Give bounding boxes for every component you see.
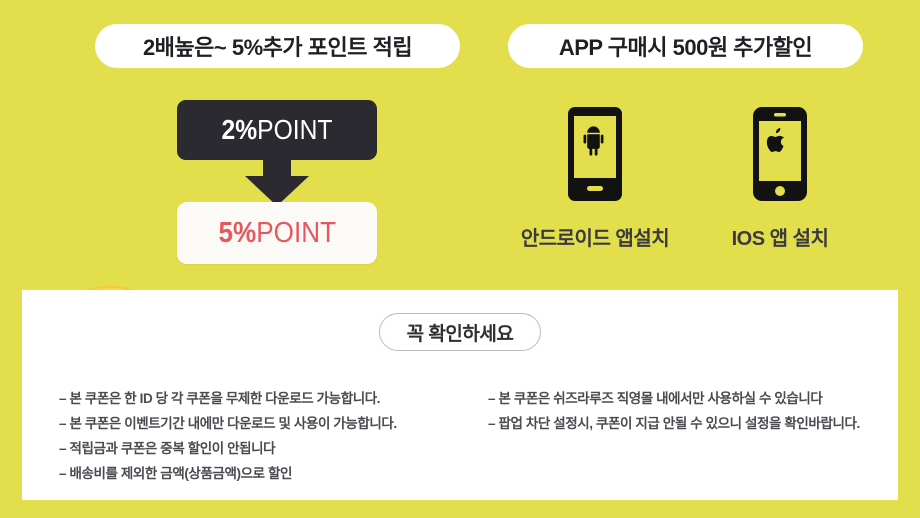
arrow-down-icon-shaft bbox=[263, 158, 291, 178]
notice-item: – 본 쿠폰은 한 ID 당 각 쿠폰을 무제한 다운로드 가능합니다. bbox=[59, 386, 479, 411]
notice-item: – 배송비를 제외한 금액(상품금액)으로 할인 bbox=[59, 461, 479, 486]
promo-banner: 2배높은~ 5%추가 포인트 적립 APP 구매시 500원 추가할인 2%PO… bbox=[0, 0, 920, 518]
notice-title-badge: 꼭 확인하세요 bbox=[379, 313, 541, 351]
app-install-android[interactable]: 안드로이드 앱설치 bbox=[505, 100, 685, 251]
point-badge-to-percent: 5% bbox=[218, 217, 256, 249]
header-pill-app: APP 구매시 500원 추가할인 bbox=[508, 24, 863, 68]
point-badge-from: 2%POINT bbox=[177, 100, 377, 160]
app-install-ios-label: IOS 앱 설치 bbox=[690, 222, 870, 251]
apple-phone-icon bbox=[690, 100, 870, 208]
notice-item: – 본 쿠폰은 쉬즈라루즈 직영몰 내에서만 사용하실 수 있습니다 bbox=[488, 386, 908, 411]
app-install-ios[interactable]: IOS 앱 설치 bbox=[690, 100, 870, 251]
header-pill-point-label: 2배높은~ 5%추가 포인트 적립 bbox=[143, 30, 412, 62]
header-pill-app-label: APP 구매시 500원 추가할인 bbox=[559, 30, 812, 62]
notice-title-label: 꼭 확인하세요 bbox=[407, 319, 514, 346]
point-badge-from-word: POINT bbox=[257, 114, 332, 145]
point-badge-from-text: 2%POINT bbox=[222, 114, 333, 146]
header-pill-point: 2배높은~ 5%추가 포인트 적립 bbox=[95, 24, 460, 68]
notice-item: – 적립금과 쿠폰은 중복 할인이 안됩니다 bbox=[59, 436, 479, 461]
notice-item: – 팝업 차단 설정시, 쿠폰이 지급 안될 수 있으니 설정을 확인바랍니다. bbox=[488, 411, 908, 436]
notice-item: – 본 쿠폰은 이벤트기간 내에만 다운로드 및 사용이 가능합니다. bbox=[59, 411, 479, 436]
point-promo-block: 2%POINT 5%POINT bbox=[0, 86, 460, 276]
notice-list-left: – 본 쿠폰은 한 ID 당 각 쿠폰을 무제한 다운로드 가능합니다. – 본… bbox=[59, 386, 479, 486]
point-badge-to: 5%POINT bbox=[177, 202, 377, 264]
point-badge-to-word: POINT bbox=[256, 217, 336, 249]
android-phone-icon bbox=[505, 100, 685, 208]
app-install-android-label: 안드로이드 앱설치 bbox=[505, 222, 685, 251]
notice-panel: 꼭 확인하세요 – 본 쿠폰은 한 ID 당 각 쿠폰을 무제한 다운로드 가능… bbox=[22, 290, 898, 500]
notice-list-right: – 본 쿠폰은 쉬즈라루즈 직영몰 내에서만 사용하실 수 있습니다 – 팝업 … bbox=[488, 386, 908, 436]
point-badge-to-text: 5%POINT bbox=[218, 217, 335, 250]
point-badge-from-percent: 2% bbox=[222, 114, 258, 145]
